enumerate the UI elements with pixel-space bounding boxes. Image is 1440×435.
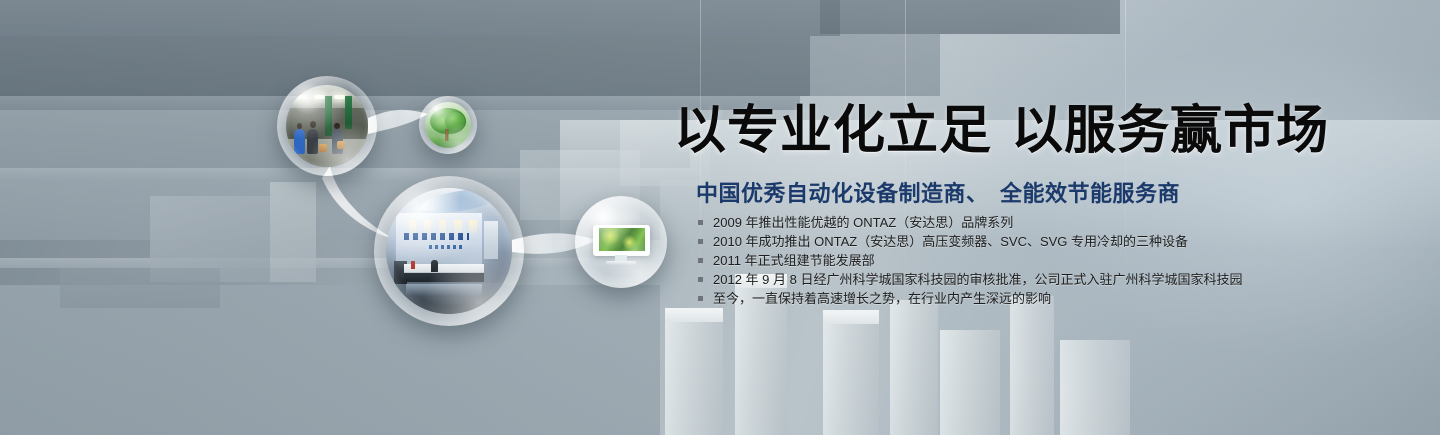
bullet-marker-icon [698, 220, 703, 225]
banner-text-block: 以专业化立足 以服务赢市场 中国优秀自动化设备制造商、 全能效节能服务商 200… [674, 0, 1434, 435]
list-item: 2010 年成功推出 ONTAZ（安达思）高压变频器、SVC、SVG 专用冷却的… [696, 232, 1396, 251]
tree-sphere [419, 96, 477, 154]
list-item-label: 至今，一直保持着高速增长之势，在行业内产生深远的影响 [713, 291, 1051, 306]
list-item: 2012 年 9 月 8 日经广州科学城国家科技园的审核批准，公司正式入驻广州科… [696, 270, 1396, 289]
hero-banner: 以专业化立足 以服务赢市场 中国优秀自动化设备制造商、 全能效节能服务商 200… [0, 0, 1440, 435]
list-item-label: 2009 年推出性能优越的 ONTAZ（安达思）品牌系列 [713, 215, 1013, 230]
banner-headline: 以专业化立足 以服务赢市场 [674, 88, 1329, 163]
list-item: 2009 年推出性能优越的 ONTAZ（安达思）品牌系列 [696, 213, 1396, 232]
list-item-label: 2010 年成功推出 ONTAZ（安达思）高压变频器、SVC、SVG 专用冷却的… [713, 234, 1188, 249]
milestone-list: 2009 年推出性能优越的 ONTAZ（安达思）品牌系列 2010 年成功推出 … [696, 213, 1396, 308]
factory-sphere [277, 76, 377, 176]
bullet-marker-icon [698, 277, 703, 282]
bullet-marker-icon [698, 258, 703, 263]
list-item: 至今，一直保持着高速增长之势，在行业内产生深远的影响 [696, 289, 1396, 308]
monitor-sphere [575, 196, 667, 288]
bullet-marker-icon [698, 239, 703, 244]
list-item-label: 2011 年正式组建节能发展部 [713, 253, 875, 268]
banner-subtitle: 中国优秀自动化设备制造商、 全能效节能服务商 [696, 176, 1180, 208]
bullet-marker-icon [698, 296, 703, 301]
list-item-label: 2012 年 9 月 8 日经广州科学城国家科技园的审核批准，公司正式入驻广州科… [713, 272, 1242, 287]
list-item: 2011 年正式组建节能发展部 [696, 251, 1396, 270]
office-sphere [374, 176, 524, 326]
